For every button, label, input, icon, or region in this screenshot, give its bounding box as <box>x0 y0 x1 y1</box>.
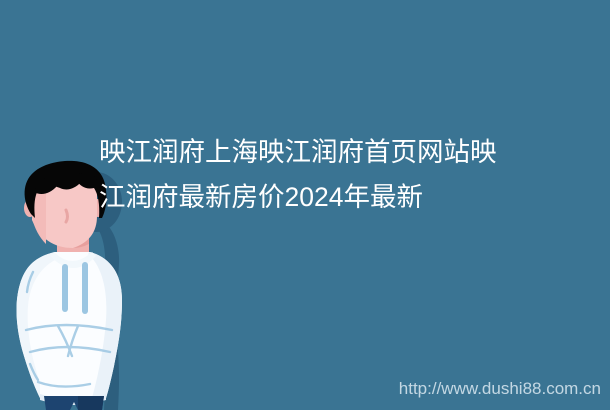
promo-banner: 映江润府上海映江润府首页网站映 江润府最新房价2024年最新 http://ww… <box>0 0 610 410</box>
headline: 映江润府上海映江润府首页网站映 江润府最新房价2024年最新 <box>99 130 597 220</box>
headline-line-2: 江润府最新房价2024年最新 <box>99 175 597 220</box>
nose <box>66 210 68 222</box>
watermark-url: http://www.dushi88.com.cn <box>399 380 601 398</box>
headline-line-1: 映江润府上海映江润府首页网站映 <box>99 130 597 175</box>
